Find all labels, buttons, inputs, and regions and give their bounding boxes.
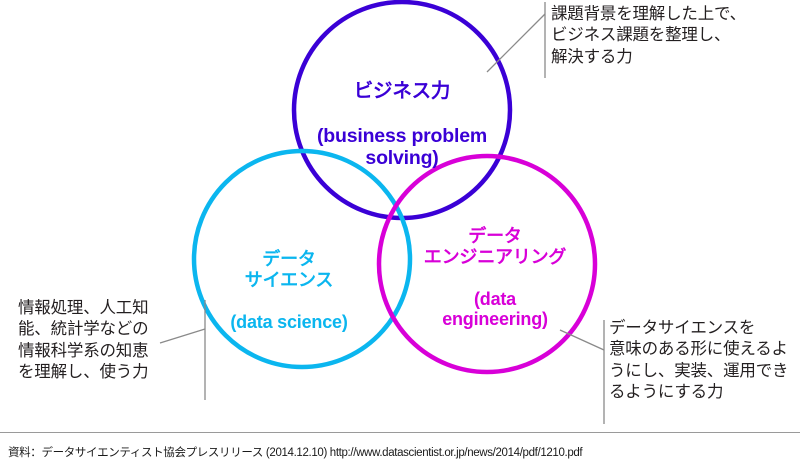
circle-label-data-science-jp: データ サイエンス — [193, 249, 385, 291]
annotation-data-engineering: データサイエンスを 意味のある形に使えるよ うにし、実装、運用でき るようにする… — [609, 318, 800, 404]
circle-label-data-science-en: (data science) — [193, 312, 385, 333]
circle-label-business-jp: ビジネス力 — [287, 80, 517, 103]
circle-label-data-science: データ サイエンス (data science) — [193, 228, 385, 353]
footer-source-note: 資料：データサイエンティスト協会プレスリリース (2014.12.10) htt… — [8, 444, 794, 460]
circle-label-data-engineering-en: (data engineering) — [398, 289, 592, 331]
circle-label-business: ビジネス力 (business problem solving) — [287, 57, 517, 193]
annotation-data-science: 情報処理、人工知 能、統計学などの 情報科学系の知恵 を理解し、使う力 — [18, 298, 203, 384]
annotation-business: 課題背景を理解した上で、 ビジネス課題を整理し、 解決する力 — [551, 4, 800, 68]
circle-label-data-engineering-jp: データ エンジニアリング — [398, 226, 592, 268]
footer-divider — [0, 432, 800, 433]
circle-label-data-engineering: データ エンジニアリング (data engineering) — [398, 205, 592, 351]
circle-label-business-en: (business problem solving) — [287, 125, 517, 170]
venn-diagram-slide: ビジネス力 (business problem solving) データ サイエ… — [0, 0, 800, 467]
